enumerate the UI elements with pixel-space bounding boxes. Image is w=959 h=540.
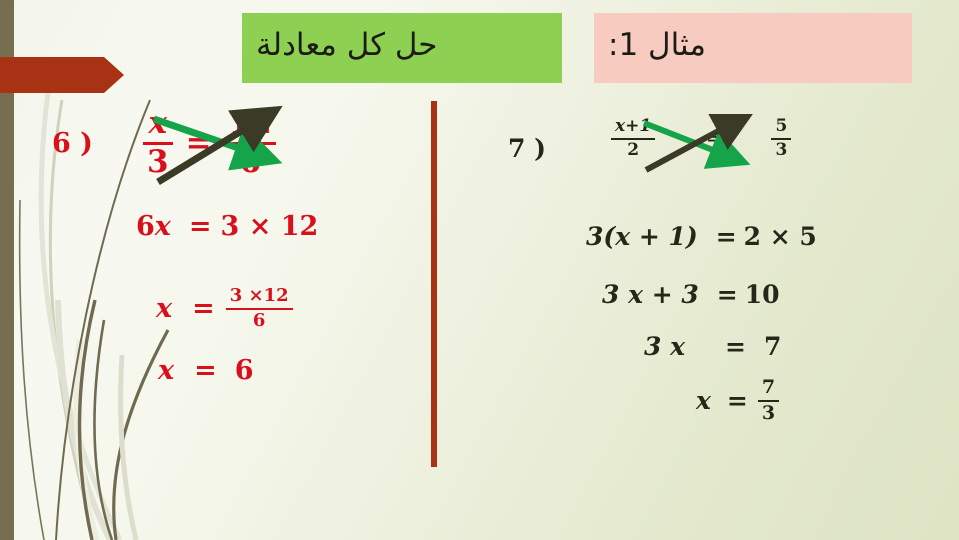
problem-6-step1-equals: = (189, 211, 212, 242)
problem-6-step-1: 6x = 3 × 12 (136, 211, 318, 242)
banner-arrow-shape (0, 57, 124, 93)
problem-6-step-3: x = 6 (158, 355, 254, 386)
problem-6-lhs-numerator: x (145, 108, 171, 141)
example-banner: مثال 1: (594, 13, 912, 83)
problem-7-lhs-denominator: 2 (623, 141, 643, 160)
problem-7-rhs-numerator: 5 (771, 118, 791, 137)
problem-6-equation: x 3 = 12 6 (140, 108, 279, 179)
problem-7-step3-lhs: 3 x (644, 332, 685, 361)
problem-7-step1-equals: = (716, 222, 737, 251)
problem-7-number: 7 ) (508, 134, 546, 163)
problem-7-step1-lhs: 3(x + 1) (586, 222, 698, 251)
problem-6-equals: = (186, 125, 212, 161)
vertical-divider (431, 101, 437, 467)
problem-7-step4-lhs: x (696, 386, 711, 415)
problem-7-step-1: 3(x + 1) = 2 × 5 (586, 222, 817, 251)
problem-6-step2-var: x (156, 293, 172, 324)
problem-7-lhs-fraction: x+1 2 (611, 118, 655, 159)
problem-7-step-4: x = 7 3 (696, 378, 782, 423)
problem-7-step2-lhs: 3 x + 3 (602, 280, 699, 309)
problem-7-step3-equals: = (725, 332, 746, 361)
problem-7-step-2: 3 x + 3 = 10 (602, 280, 780, 309)
problem-6-step1-coef: 6 (136, 211, 155, 242)
problem-7-equation: x+1 2 = 5 3 (608, 118, 794, 159)
problem-7-equals: = (706, 129, 720, 149)
problem-7-step1-rhs: 2 × 5 (744, 222, 817, 251)
problem-6-rhs-numerator: 12 (225, 108, 276, 141)
instruction-banner: حل كل معادلة (242, 13, 562, 83)
problem-6-lhs-denominator: 3 (143, 146, 173, 179)
problem-6-lhs-fraction: x 3 (143, 108, 173, 179)
problem-7-step3-rhs: 7 (764, 332, 781, 361)
problem-7-step4-denominator: 3 (758, 403, 779, 424)
problem-6-number: 6 ) (52, 128, 93, 159)
problem-7-step2-equals: = (717, 280, 738, 309)
problem-7-step2-rhs: 10 (745, 280, 780, 309)
problem-6-step2-equals: = (192, 293, 215, 324)
problem-6-step1-rhs: 3 × 12 (221, 211, 319, 242)
problem-7-step4-equals: = (727, 386, 748, 415)
problem-6-step2-denominator: 6 (249, 311, 270, 331)
problem-6-step3-equals: = (194, 355, 217, 386)
problem-6-step2-fraction: 3 ×12 6 (226, 287, 293, 330)
instruction-text: حل كل معادلة (256, 27, 437, 63)
problem-7-rhs-fraction: 5 3 (771, 118, 791, 159)
problem-6-step2-numerator: 3 ×12 (226, 287, 293, 307)
slide-canvas: حل كل معادلة مثال 1: 6 ) x 3 = 12 6 (0, 0, 959, 540)
problem-7-step4-fraction: 7 3 (758, 378, 779, 423)
example-text: مثال 1: (608, 27, 706, 63)
problem-7-rhs-denominator: 3 (771, 141, 791, 160)
problem-6-rhs-fraction: 12 6 (225, 108, 276, 179)
problem-6-step1-var: x (155, 211, 171, 242)
problem-6-step-2: x = 3 ×12 6 (156, 287, 296, 330)
problem-6-step3-var: x (158, 355, 174, 386)
problem-7-step4-numerator: 7 (758, 378, 779, 399)
problem-6-step3-rhs: 6 (235, 355, 254, 386)
problem-7-step-3: 3 x = 7 (644, 332, 781, 361)
problem-6-rhs-denominator: 6 (235, 146, 265, 179)
problem-7-lhs-numerator: x+1 (611, 118, 655, 137)
